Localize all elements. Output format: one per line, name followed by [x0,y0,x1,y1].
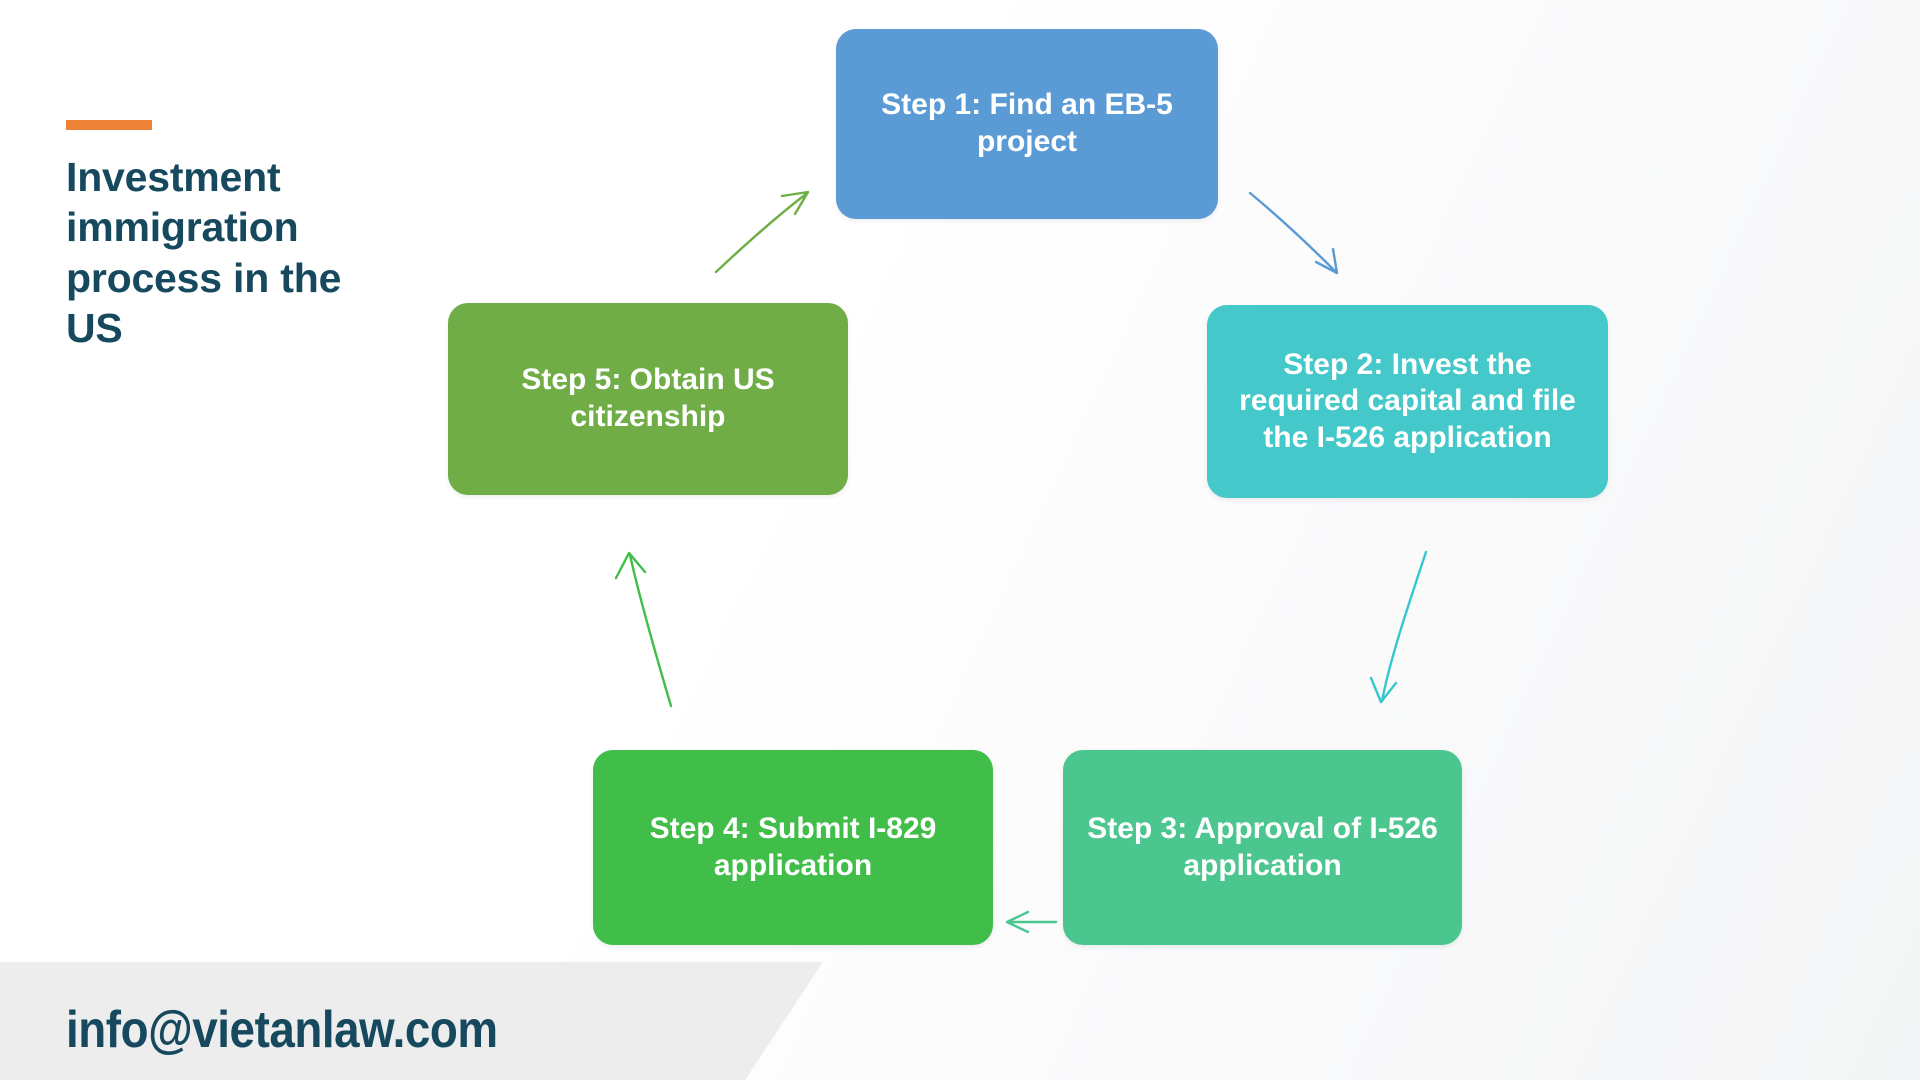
arrow-step5-step1 [716,192,808,272]
accent-rule [66,120,152,130]
arrow-step2-step3 [1371,552,1426,702]
step-box-5[interactable]: Step 5: Obtain US citizenship [448,303,848,495]
footer-email[interactable]: info@vietanlaw.com [66,1000,498,1060]
step-box-3[interactable]: Step 3: Approval of I-526 application [1063,750,1462,945]
step-box-1[interactable]: Step 1: Find an EB-5 project [836,29,1218,219]
step-box-1-label: Step 1: Find an EB-5 project [854,87,1200,160]
step-box-4-label: Step 4: Submit I-829 application [611,811,975,884]
arrow-step4-step5 [616,553,671,706]
arrow-step1-step2 [1250,193,1337,273]
step-box-4[interactable]: Step 4: Submit I-829 application [593,750,993,945]
slide-canvas: Investment immigration process in the US [0,0,1920,1080]
step-box-5-label: Step 5: Obtain US citizenship [466,362,830,435]
step-box-3-label: Step 3: Approval of I-526 application [1081,811,1444,884]
arrow-step3-step4 [1007,912,1056,932]
title-block: Investment immigration process in the US [66,120,346,354]
step-box-2-label: Step 2: Invest the required capital and … [1225,347,1590,457]
step-box-2[interactable]: Step 2: Invest the required capital and … [1207,305,1608,498]
page-title: Investment immigration process in the US [66,152,346,354]
